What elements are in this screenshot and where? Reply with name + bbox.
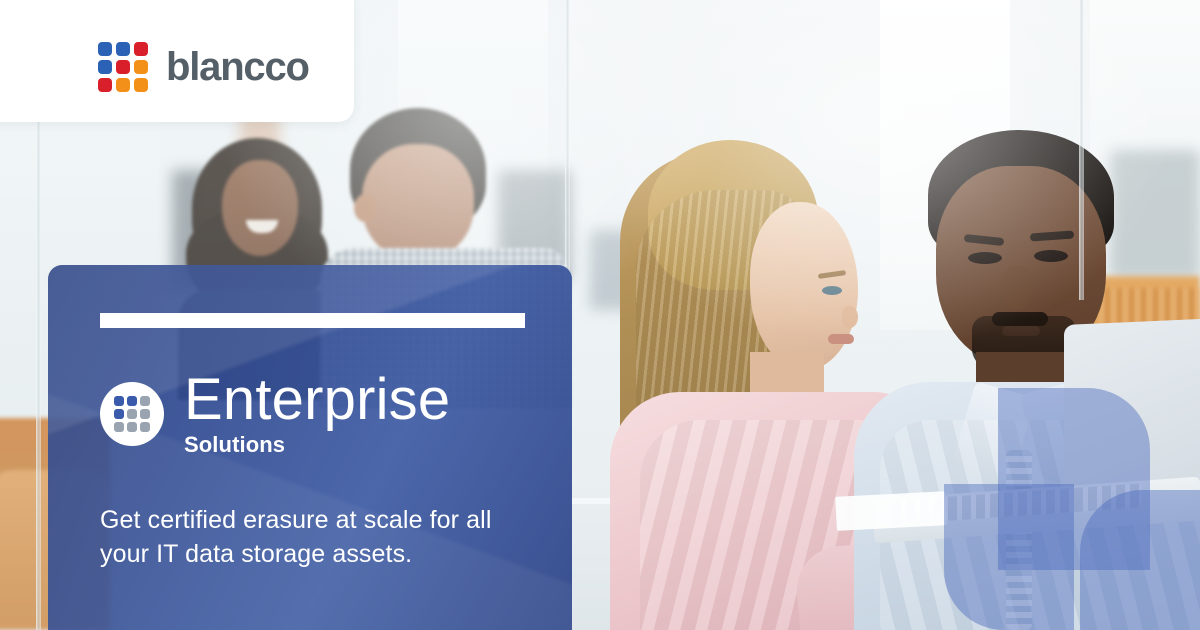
logo-dot-2 [116,42,130,56]
blancco-wordmark: blancco [166,47,309,87]
blancco-logo-lockup[interactable]: blancco [98,42,309,92]
logo-box: blancco [0,0,354,122]
logo-dot-1 [98,42,112,56]
glass-mullion [1079,0,1084,300]
glass-mullion [565,0,570,300]
background-man-head [362,144,474,260]
logo-dot-8 [116,78,130,92]
badge-dot-7 [114,422,124,432]
logo-dot-5 [116,60,130,74]
product-name-block: Enterprise Solutions [184,372,450,457]
enterprise-dot-grid-icon [114,396,150,432]
badge-dot-9 [140,422,150,432]
marketing-banner: blancco [0,0,1200,630]
badge-dot-3 [140,396,150,406]
badge-dot-4 [114,409,124,419]
logo-dot-9 [134,78,148,92]
woman-eye [822,286,842,295]
enterprise-badge [100,382,164,446]
content-panel: Enterprise Solutions Get certified erasu… [48,265,572,630]
badge-dot-5 [127,409,137,419]
background-woman-face [222,160,298,256]
logo-dot-3 [134,42,148,56]
man-nose [1002,266,1032,310]
paper-sheet [835,491,947,531]
woman-nose [842,306,858,328]
background-man-ear [354,194,376,222]
tagline: Get certified erasure at scale for all y… [100,503,520,572]
logo-dot-6 [134,60,148,74]
product-subtitle: Solutions [184,433,450,457]
product-brand-row: Enterprise Solutions [100,372,520,457]
accent-rule [100,313,525,328]
badge-dot-2 [127,396,137,406]
logo-dot-7 [98,78,112,92]
woman-lips [828,334,854,344]
man-eye-right [1034,250,1068,262]
blancco-dot-grid-icon [98,42,148,92]
product-title: Enterprise [184,372,450,428]
man-eye-left [968,252,1002,264]
woman-face [750,202,858,370]
badge-dot-6 [140,409,150,419]
badge-dot-8 [127,422,137,432]
badge-dot-1 [114,396,124,406]
logo-dot-4 [98,60,112,74]
